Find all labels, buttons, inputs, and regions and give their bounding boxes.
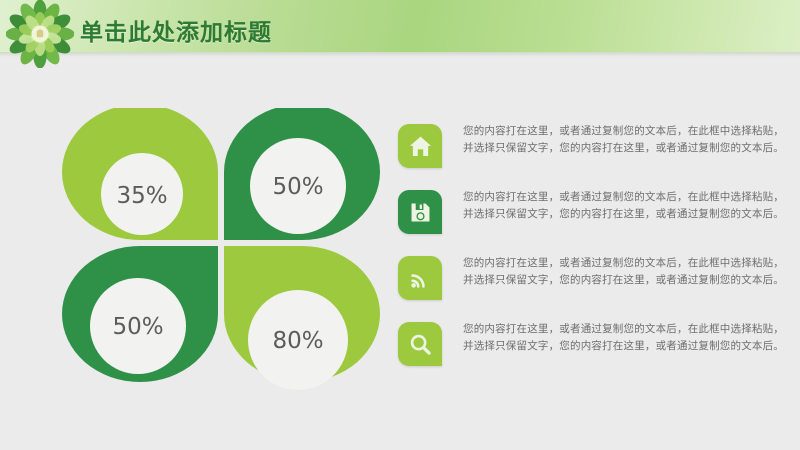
- home-icon[interactable]: [398, 124, 442, 168]
- list-item[interactable]: 您的内容打在这里，或者通过复制您的文本后，在此框中选择粘贴，并选择只保留文字，您…: [398, 124, 788, 171]
- list-item[interactable]: 您的内容打在这里，或者通过复制您的文本后，在此框中选择粘贴，并选择只保留文字，您…: [398, 256, 788, 303]
- petal-label-bottom-left: 50%: [112, 314, 163, 340]
- slide-canvas: 单击此处添加标题 35% 50% 50% 80%: [0, 0, 800, 450]
- list-item-text: 您的内容打在这里，或者通过复制您的文本后，在此框中选择粘贴，并选择只保留文字，您…: [463, 321, 788, 355]
- page-title: 单击此处添加标题: [80, 13, 272, 47]
- rss-signal-icon[interactable]: [398, 256, 442, 300]
- petal-label-top-left: 35%: [116, 183, 167, 209]
- list-item[interactable]: 您的内容打在这里，或者通过复制您的文本后，在此框中选择粘贴，并选择只保留文字，您…: [398, 190, 788, 237]
- pinwheel-percentage-chart: 35% 50% 50% 80%: [58, 108, 380, 398]
- flower-logo: [6, 0, 74, 68]
- info-list: 您的内容打在这里，或者通过复制您的文本后，在此框中选择粘贴，并选择只保留文字，您…: [398, 124, 788, 388]
- list-item-text: 您的内容打在这里，或者通过复制您的文本后，在此框中选择粘贴，并选择只保留文字，您…: [463, 123, 788, 157]
- save-floppy-icon[interactable]: [398, 190, 442, 234]
- petal-label-bottom-right: 80%: [272, 328, 323, 354]
- list-item[interactable]: 您的内容打在这里，或者通过复制您的文本后，在此框中选择粘贴，并选择只保留文字，您…: [398, 322, 788, 369]
- list-item-text: 您的内容打在这里，或者通过复制您的文本后，在此框中选择粘贴，并选择只保留文字，您…: [463, 255, 788, 289]
- search-magnifier-icon[interactable]: [398, 322, 442, 366]
- list-item-text: 您的内容打在这里，或者通过复制您的文本后，在此框中选择粘贴，并选择只保留文字，您…: [463, 189, 788, 223]
- petal-label-top-right: 50%: [272, 174, 323, 200]
- header-shadow: [0, 52, 800, 57]
